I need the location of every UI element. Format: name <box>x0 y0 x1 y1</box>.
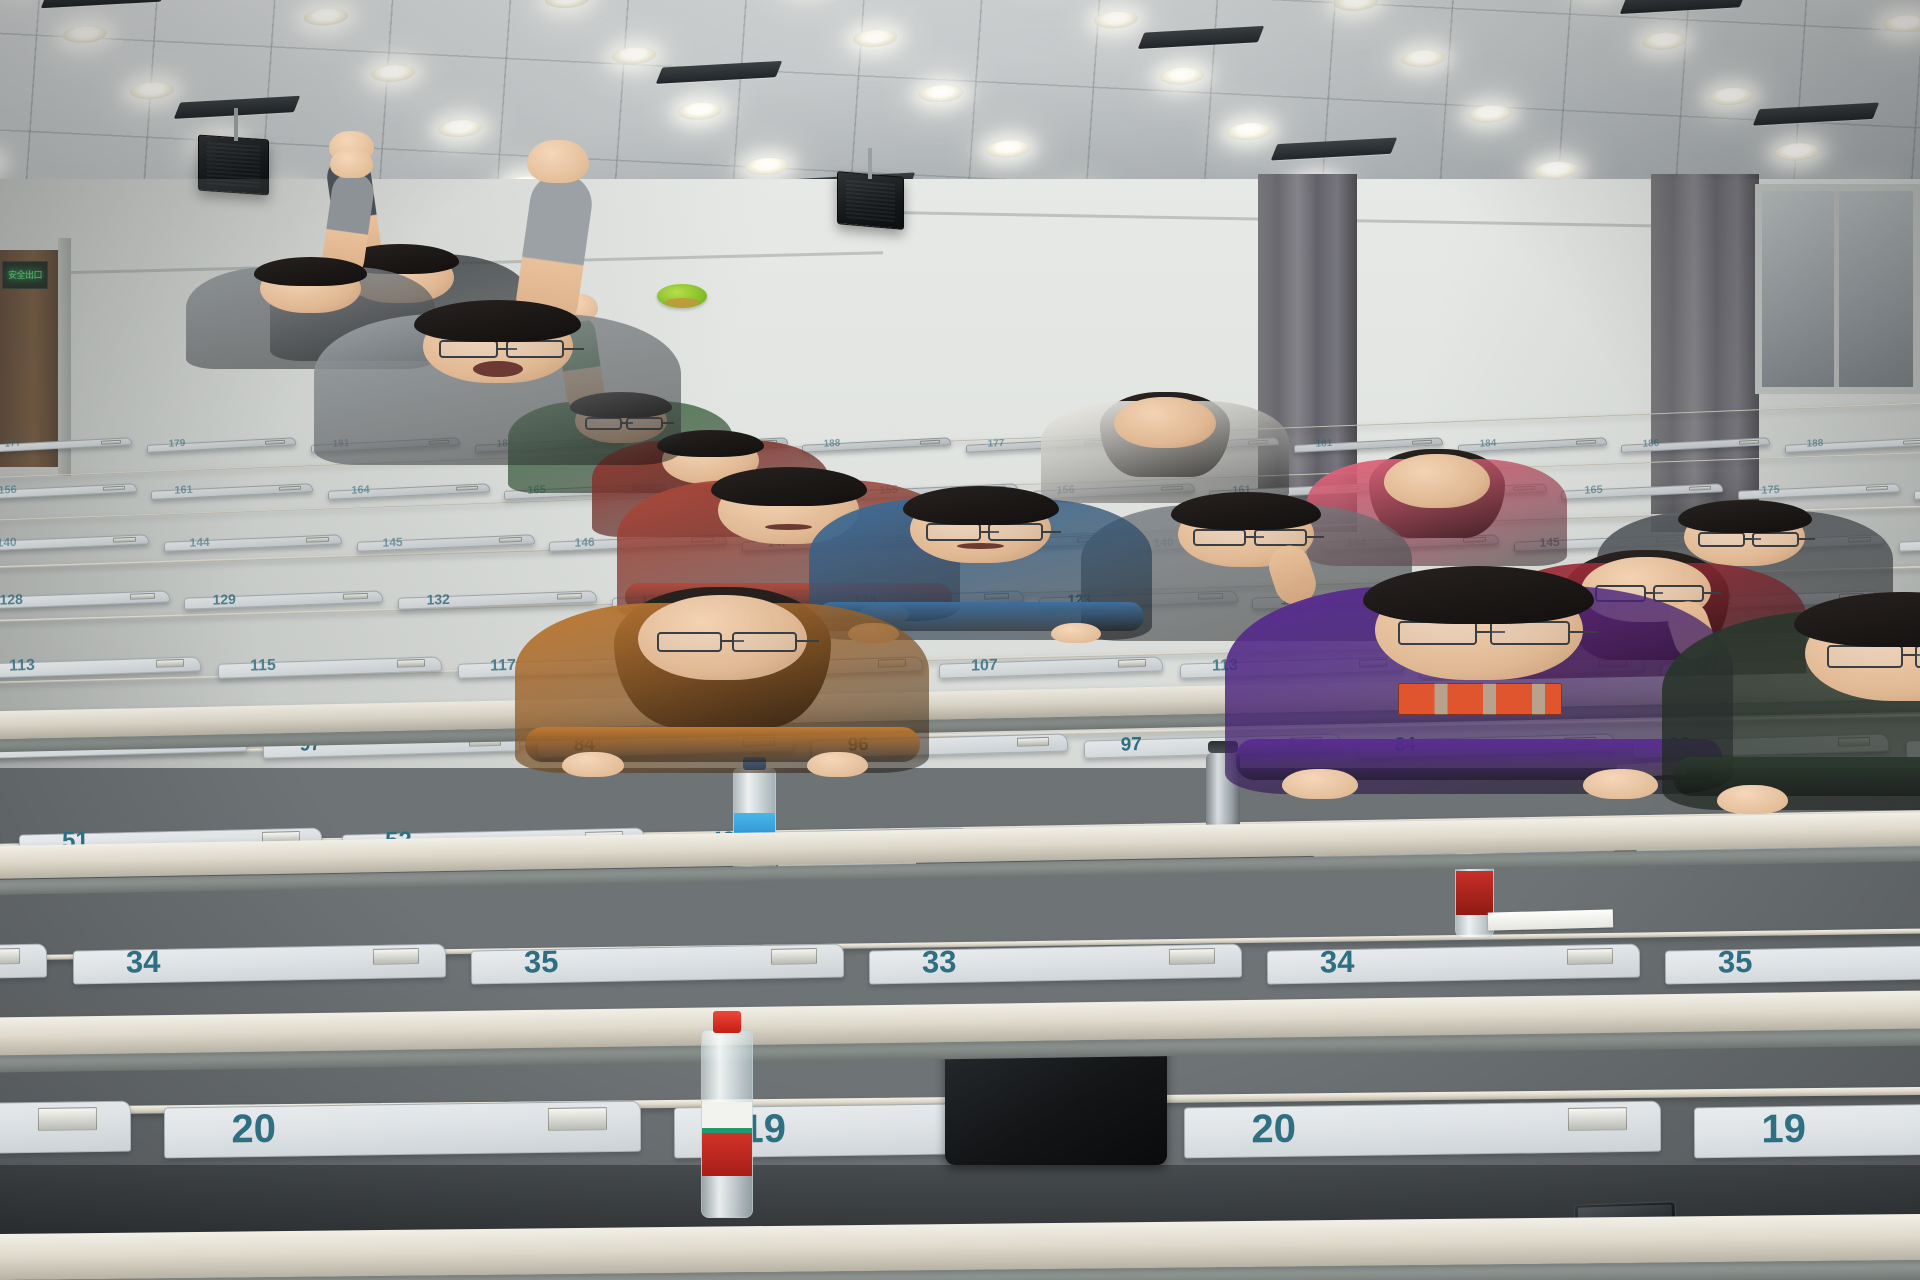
seat-number-label: 146 <box>575 535 595 548</box>
water-bottle-front[interactable] <box>701 1030 753 1218</box>
eyeglasses <box>1254 529 1307 546</box>
seat-number-label: 184 <box>1479 438 1496 449</box>
seat-back[interactable]: 33 <box>869 943 1242 984</box>
bottle-label-red <box>702 1132 752 1177</box>
seat-hinge-bracket <box>37 1107 96 1131</box>
eyeglasses <box>926 523 981 540</box>
student-mouth <box>765 524 812 530</box>
raised-hand <box>330 149 372 178</box>
seat-back[interactable]: 177 <box>0 437 133 452</box>
seat-number-label: 34 <box>125 946 160 978</box>
student-hair <box>1678 500 1812 534</box>
eyeglasses <box>1752 532 1800 547</box>
seat-number-label: 128 <box>0 592 23 607</box>
seat-number-label: 34 <box>1320 946 1355 978</box>
seat-back[interactable]: 129 <box>184 591 383 611</box>
seat-number-label: 132 <box>427 592 450 607</box>
seat-number-label: 177 <box>988 438 1005 449</box>
seat-hinge-bracket <box>280 486 301 492</box>
seat-hinge-bracket <box>1168 948 1215 964</box>
seat-hinge-bracket <box>770 948 817 964</box>
seat-back[interactable]: 184 <box>1458 437 1607 452</box>
seat-back[interactable]: 188 <box>802 437 951 452</box>
seat-number-label: 181 <box>1315 438 1332 449</box>
seat-number-label: 35 <box>524 946 559 978</box>
seat-number-label: 145 <box>382 535 402 548</box>
seat-hinge-bracket <box>1740 439 1760 444</box>
seat-back[interactable]: 140 <box>0 534 149 552</box>
seat-number-label: 97 <box>1121 735 1142 755</box>
seat-number-label: 175 <box>1761 485 1779 497</box>
seat-hinge-bracket <box>1576 439 1596 444</box>
seat-hinge-bracket <box>129 593 155 600</box>
eyeglasses <box>1653 585 1704 601</box>
seat-number-label: 20 <box>1251 1109 1296 1150</box>
seat-number-label: 188 <box>824 438 841 449</box>
seat-number-label: 144 <box>189 535 209 548</box>
seat-hinge-bracket <box>1412 439 1432 444</box>
seat-back[interactable]: 35 <box>471 943 844 984</box>
seat-hinge-bracket <box>396 659 425 667</box>
seat-hinge-bracket <box>1016 736 1049 746</box>
seat-back[interactable]: 145 <box>357 534 535 552</box>
seat-hinge-bracket <box>156 659 185 667</box>
seat-back[interactable]: 107 <box>939 656 1163 678</box>
seat-hinge-bracket <box>103 486 124 492</box>
resting-arms <box>1673 757 1920 797</box>
seat-hinge-bracket <box>0 948 21 964</box>
seat-back[interactable]: 186 <box>1621 437 1770 452</box>
eyeglasses <box>732 632 797 652</box>
hoodie-graphic-boxes <box>1398 683 1562 715</box>
bottle-label-right <box>1456 871 1492 915</box>
seat-number-label: 179 <box>169 438 186 449</box>
seat-number-label: 19 <box>1761 1109 1806 1150</box>
seat-back[interactable]: 128 <box>0 591 170 611</box>
seat-number-label: 188 <box>1807 438 1824 449</box>
student-hair <box>254 257 367 285</box>
seat-number-label: 35 <box>1718 946 1753 978</box>
eyeglasses <box>1698 532 1746 547</box>
seat-number-label: 140 <box>0 535 17 548</box>
seat-number-label: 33 <box>922 946 957 978</box>
seat-back[interactable]: 164 <box>328 484 490 500</box>
seat-hinge-bracket <box>921 439 941 444</box>
student-head <box>1384 454 1490 507</box>
seat-hinge-bracket <box>113 536 136 542</box>
seat-back[interactable]: 20 <box>1184 1101 1661 1159</box>
eyeglasses <box>1915 645 1920 668</box>
seat-hinge-bracket <box>557 593 583 600</box>
seat-hinge-bracket <box>456 486 477 492</box>
eyeglasses <box>657 632 722 652</box>
seat-back[interactable]: 175 <box>1738 484 1900 500</box>
seat-back[interactable]: 34 <box>1267 943 1640 984</box>
eyeglasses <box>439 340 497 358</box>
seat-hinge-bracket <box>372 948 419 964</box>
seat-hinge-bracket <box>343 593 369 600</box>
seat-back[interactable]: 19 <box>1694 1101 1920 1159</box>
seat-back[interactable]: 33 <box>0 943 48 984</box>
seat-back[interactable]: 165 <box>1561 484 1723 500</box>
eyeglasses <box>1827 645 1903 668</box>
seat-hinge-bracket <box>1866 486 1887 492</box>
seat-number-label: 117 <box>490 657 516 674</box>
seat-hinge-bracket <box>547 1107 606 1131</box>
student-hair <box>903 486 1059 525</box>
seat-number-label: 115 <box>250 657 276 674</box>
seat-hinge-bracket <box>1690 486 1711 492</box>
eyeglasses <box>988 523 1043 540</box>
seat-number-label: 156 <box>0 485 17 497</box>
seat-number-label: 113 <box>9 657 35 674</box>
seat-number-label: 165 <box>1585 485 1603 497</box>
eyeglasses <box>1398 621 1477 645</box>
bottle-label-green-stripe <box>702 1128 752 1134</box>
seat-number-label: 177 <box>5 438 22 449</box>
seat-back[interactable]: 188 <box>1785 437 1920 452</box>
resting-hand-left <box>1717 785 1789 814</box>
seat-number-label: 161 <box>175 485 193 497</box>
bottle-cap-front <box>713 1011 741 1033</box>
resting-hand-left <box>1282 769 1357 799</box>
seat-back[interactable]: 156 <box>0 484 137 500</box>
seat-hinge-bracket <box>498 536 521 542</box>
seat-back[interactable]: 155 <box>1914 484 1920 500</box>
seat-hinge-bracket <box>1568 1107 1627 1131</box>
student-head <box>1114 397 1216 448</box>
seat-back[interactable]: 20 <box>164 1101 641 1159</box>
seat-hinge-bracket <box>306 536 329 542</box>
seat-hinge-bracket <box>265 439 285 444</box>
notebook-page-right <box>1488 910 1613 931</box>
lecture-hall-photo: 安全出口 18817717918118418618817717918118418… <box>0 0 1920 1280</box>
seat-hinge-bracket <box>1567 948 1614 964</box>
speaker-mount-left <box>234 108 238 141</box>
seat-back[interactable]: 147 <box>1899 534 1920 552</box>
seat-back[interactable]: 35 <box>1665 943 1920 984</box>
seat-number-label: 186 <box>1643 438 1660 449</box>
eyeglasses <box>506 340 564 358</box>
seat-number-label: 107 <box>971 657 998 674</box>
seat-back[interactable]: 34 <box>72 943 445 984</box>
seat-back[interactable]: 144 <box>164 534 342 552</box>
resting-hand-right <box>1583 769 1658 799</box>
seat-back[interactable]: 161 <box>151 484 313 500</box>
seat-hinge-bracket <box>1118 659 1147 667</box>
seat-hinge-bracket <box>1904 439 1920 444</box>
seat-back[interactable]: 19 <box>0 1101 131 1159</box>
resting-hand-left <box>562 752 623 777</box>
eyeglasses <box>1193 529 1246 546</box>
seat-hinge-bracket <box>102 439 122 444</box>
seat-back[interactable]: 179 <box>147 437 296 452</box>
resting-hand-right <box>807 752 868 777</box>
student-hair <box>1171 492 1322 530</box>
seat-number-label: 164 <box>351 485 369 497</box>
resting-hand-right <box>1051 623 1102 643</box>
seat-number-label: 129 <box>213 592 236 607</box>
seat-number-label: 20 <box>231 1109 276 1150</box>
seat-back[interactable]: 113 <box>0 656 201 678</box>
raised-hand <box>527 140 589 184</box>
speaker-mount-right <box>868 148 872 179</box>
eyeglasses <box>1490 621 1569 645</box>
